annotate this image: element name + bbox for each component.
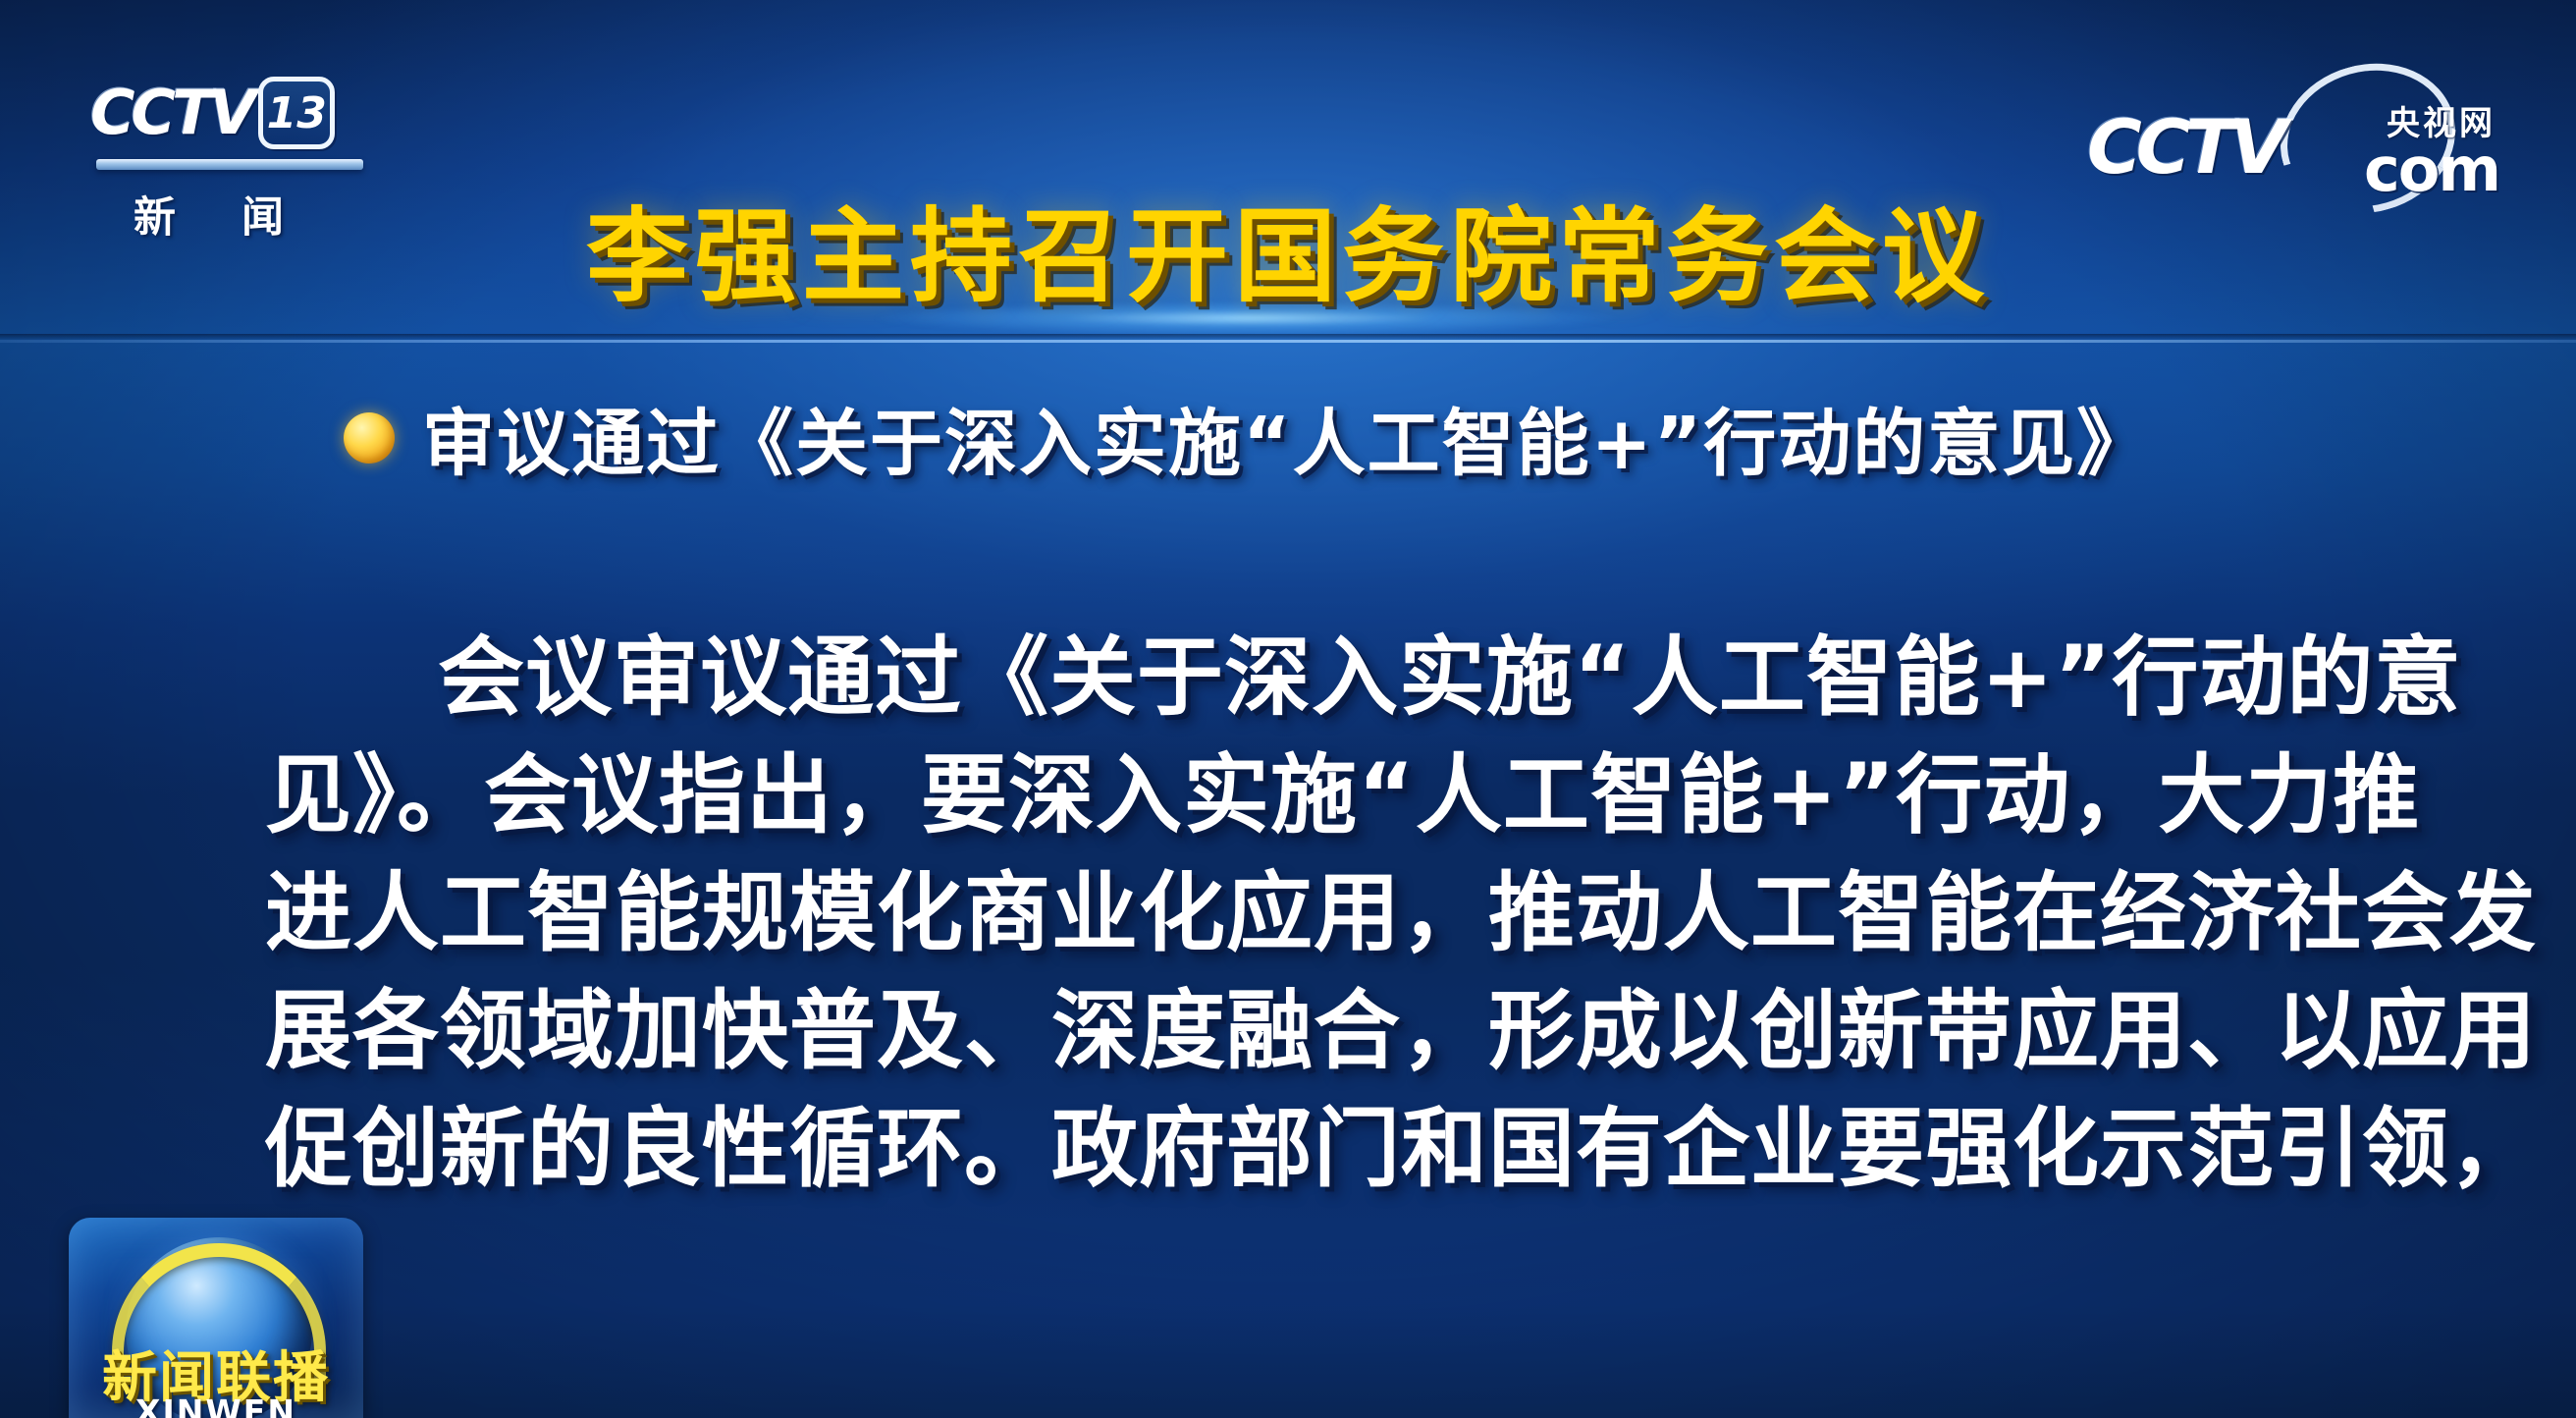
cctv13-logo-row: CCTV 13 bbox=[90, 77, 395, 149]
body-line: 会议审议通过《关于深入实施“人工智能+”行动的意 bbox=[265, 619, 2336, 736]
page-title: 李强主持召开国务院常务会议 bbox=[0, 173, 2576, 321]
program-bug-pinyin: XINWEN LIANBO bbox=[69, 1392, 363, 1418]
broadcast-frame: CCTV 13 新 闻 CCTV 央视网 com 李强主持召开国务院常务会议 审… bbox=[0, 0, 2576, 1418]
body-line: 见》。会议指出，要深入实施“人工智能+”行动，大力推 bbox=[265, 736, 2336, 854]
cctv13-underline-bar bbox=[96, 159, 363, 170]
body-line: 促创新的良性循环。政府部门和国有企业要强化示范引领， bbox=[265, 1090, 2336, 1208]
article-body: 会议审议通过《关于深入实施“人工智能+”行动的意 见》。会议指出，要深入实施“人… bbox=[265, 619, 2336, 1208]
channel-number-badge: 13 bbox=[258, 77, 335, 149]
program-bug-xinwen-lianbo: 新闻联播 XINWEN LIANBO bbox=[69, 1218, 363, 1418]
bullet-line: 审议通过《关于深入实施“人工智能+”行动的意见》 bbox=[344, 385, 2151, 490]
body-line: 展各领域加快普及、深度融合，形成以创新带应用、以应用 bbox=[265, 972, 2336, 1090]
gold-sphere-bullet-icon bbox=[344, 412, 395, 464]
cctv-wordmark: CCTV bbox=[90, 82, 252, 143]
body-line: 进人工智能规模化商业化应用，推动人工智能在经济社会发 bbox=[265, 854, 2336, 972]
bullet-line-text: 审议通过《关于深入实施“人工智能+”行动的意见》 bbox=[422, 385, 2151, 490]
